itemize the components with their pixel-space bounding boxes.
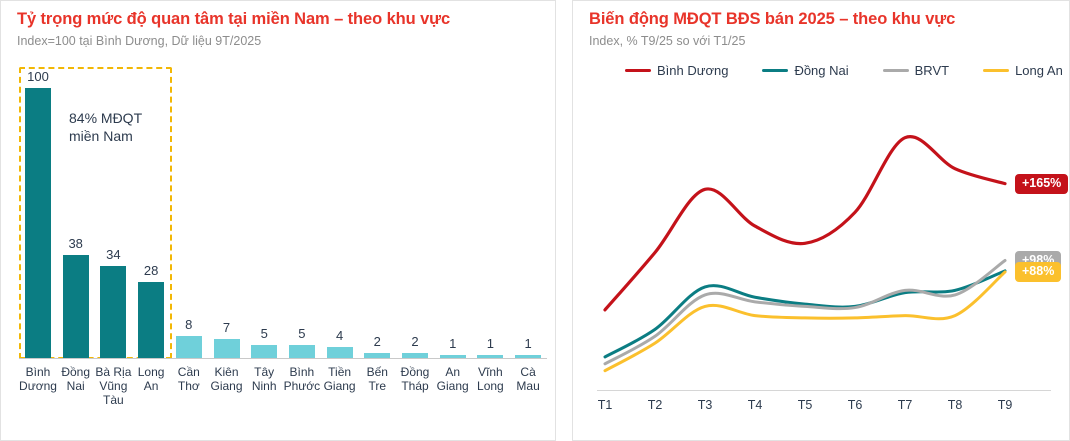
bar-rect[interactable] xyxy=(25,88,51,358)
bar-rect[interactable] xyxy=(440,355,466,358)
bar-value-label: 2 xyxy=(396,334,434,349)
bar-value-label: 1 xyxy=(471,336,509,351)
bar-rect[interactable] xyxy=(63,255,89,358)
line-path-0 xyxy=(605,137,1005,310)
bar-value-label: 5 xyxy=(245,326,283,341)
line-path-2 xyxy=(605,261,1005,364)
bar-rect[interactable] xyxy=(100,266,126,358)
bar-item[interactable]: 34Bà RịaVũngTàu xyxy=(94,1,132,441)
bar-value-label: 1 xyxy=(434,336,472,351)
line-plot-area: T1T2T3T4T5T6T7T8T9 +165%+89%+98%+88% xyxy=(573,1,1070,441)
bar-rect[interactable] xyxy=(364,353,390,358)
bar-item[interactable]: 2ĐồngTháp xyxy=(396,1,434,441)
x-tick-label: T3 xyxy=(685,398,725,412)
bar-item[interactable]: 28LongAn xyxy=(132,1,170,441)
bar-item[interactable]: 1VĩnhLong xyxy=(471,1,509,441)
bar-plot-area: 84% MĐQT miền Nam 100BìnhDương38ĐồngNai3… xyxy=(1,1,556,441)
x-axis-line xyxy=(597,390,1051,391)
bar-category-label: CàMau xyxy=(506,365,550,393)
bar-rect[interactable] xyxy=(327,347,353,358)
bar-value-label: 1 xyxy=(509,336,547,351)
bar-item[interactable]: 4TiềnGiang xyxy=(321,1,359,441)
bar-item[interactable]: 1CàMau xyxy=(509,1,547,441)
x-tick-label: T5 xyxy=(785,398,825,412)
bar-value-label: 28 xyxy=(132,263,170,278)
x-tick-label: T2 xyxy=(635,398,675,412)
dashboard-root: Tỷ trọng mức độ quan tâm tại miền Nam – … xyxy=(0,0,1070,441)
bar-item[interactable]: 38ĐồngNai xyxy=(57,1,95,441)
bar-item[interactable]: 7KiênGiang xyxy=(208,1,246,441)
bar-item[interactable]: 5TâyNinh xyxy=(245,1,283,441)
bar-category-label-line: Tàu xyxy=(91,393,135,407)
bar-category-label-line: Mau xyxy=(506,379,550,393)
bar-rect[interactable] xyxy=(477,355,503,358)
bar-rect[interactable] xyxy=(214,339,240,358)
bar-value-label: 4 xyxy=(321,328,359,343)
x-tick-label: T1 xyxy=(585,398,625,412)
bar-item[interactable]: 8CầnThơ xyxy=(170,1,208,441)
x-tick-label: T6 xyxy=(835,398,875,412)
bar-rect[interactable] xyxy=(289,345,315,359)
bar-value-label: 38 xyxy=(57,236,95,251)
bar-item[interactable]: 5BìnhPhước xyxy=(283,1,321,441)
bar-value-label: 5 xyxy=(283,326,321,341)
end-label-3: +88% xyxy=(1015,262,1061,282)
bar-rect[interactable] xyxy=(402,353,428,358)
bar-value-label: 34 xyxy=(94,247,132,262)
line-chart-panel: Biến động MĐQT BĐS bán 2025 – theo khu v… xyxy=(572,0,1070,441)
bar-item[interactable]: 1AnGiang xyxy=(434,1,472,441)
end-label-0: +165% xyxy=(1015,174,1068,194)
bar-rect[interactable] xyxy=(176,336,202,358)
bar-value-label: 8 xyxy=(170,317,208,332)
line-path-1 xyxy=(605,271,1005,357)
x-tick-label: T7 xyxy=(885,398,925,412)
line-series-svg xyxy=(573,1,1070,441)
x-tick-label: T9 xyxy=(985,398,1025,412)
bar-rect[interactable] xyxy=(251,345,277,359)
bar-value-label: 100 xyxy=(19,69,57,84)
bar-value-label: 2 xyxy=(358,334,396,349)
x-tick-label: T8 xyxy=(935,398,975,412)
bar-rect[interactable] xyxy=(138,282,164,358)
bar-rect[interactable] xyxy=(515,355,541,358)
bar-category-label-line: Cà xyxy=(506,365,550,379)
bar-item[interactable]: 2BếnTre xyxy=(358,1,396,441)
x-tick-label: T4 xyxy=(735,398,775,412)
bar-value-label: 7 xyxy=(208,320,246,335)
bar-chart-panel: Tỷ trọng mức độ quan tâm tại miền Nam – … xyxy=(0,0,556,441)
bar-item[interactable]: 100BìnhDương xyxy=(19,1,57,441)
